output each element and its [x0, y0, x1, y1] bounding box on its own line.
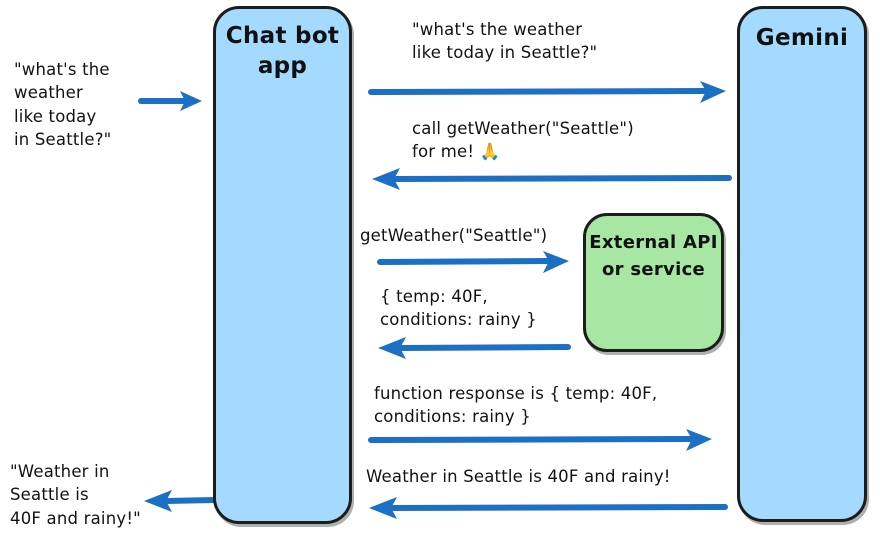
node-chatbot-app[interactable]: Chat bot app: [213, 6, 352, 524]
node-external-api[interactable]: External API or service: [583, 213, 724, 352]
arrow-api-to-app: [372, 335, 572, 361]
arrow-gemini-final-to-app: [363, 495, 731, 521]
label-app-function-response: function response is { temp: 40F, condit…: [374, 382, 734, 429]
diagram-canvas: Chat bot app Gemini External API or serv…: [0, 0, 880, 548]
node-external-api-label: External API or service: [586, 230, 721, 283]
node-gemini[interactable]: Gemini: [737, 6, 867, 522]
arrow-gemini-to-app-toolcall: [366, 166, 734, 192]
label-app-to-user: "Weather in Seattle is 40F and rainy!": [10, 460, 170, 530]
label-api-to-app: { temp: 40F, conditions: rainy }: [380, 285, 600, 332]
arrow-app-to-gemini: [368, 79, 734, 105]
label-app-to-api: getWeather("Seattle"): [360, 224, 590, 247]
node-chatbot-app-label: Chat bot app: [216, 21, 349, 82]
label-gemini-final: Weather in Seattle is 40F and rainy!: [366, 465, 746, 488]
label-app-to-gemini: "what's the weather like today in Seattl…: [412, 18, 742, 65]
label-gemini-tool-request: call getWeather("Seattle") for me! 🙏: [412, 117, 742, 164]
label-user-question: "what's the weather like today in Seattl…: [14, 58, 204, 152]
node-gemini-label: Gemini: [740, 23, 864, 53]
arrow-app-to-api: [377, 249, 577, 275]
arrow-app-fnresponse-gemini: [368, 427, 720, 453]
